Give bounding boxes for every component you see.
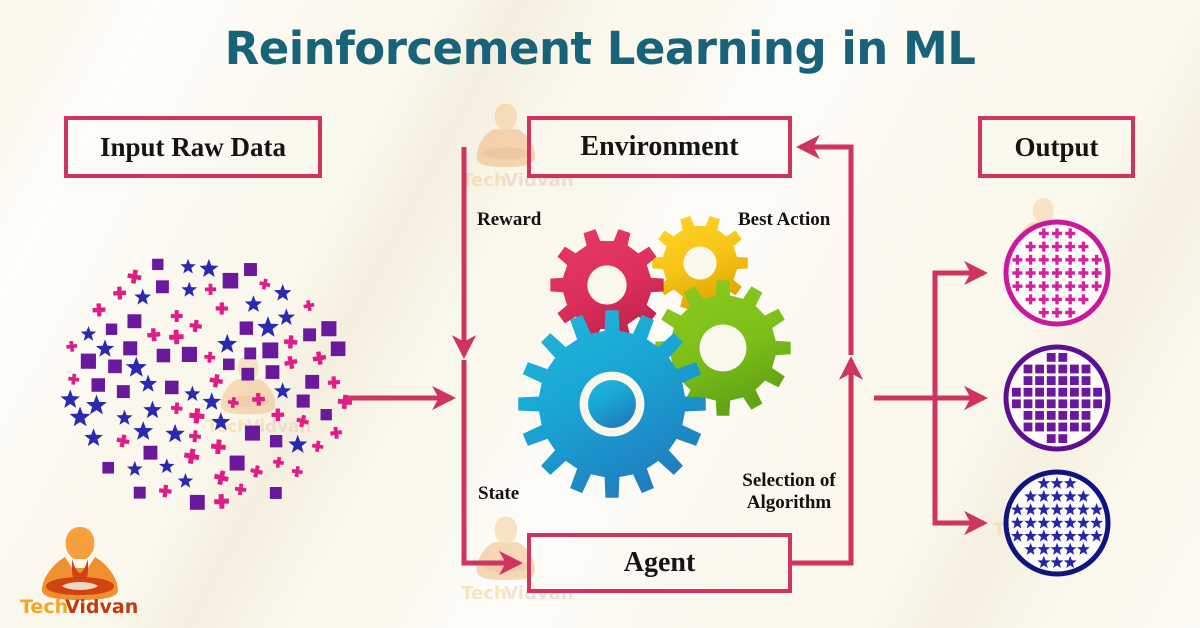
input-marker-star: [245, 295, 263, 312]
gear-cluster: [518, 216, 790, 498]
edge-label-best-action: Best Action: [738, 209, 830, 231]
input-marker-square: [270, 435, 282, 447]
gear-blue: [518, 310, 706, 498]
arrow-to-output-top: [935, 273, 984, 398]
input-marker-cross: [327, 376, 340, 389]
output-marker-square: [1070, 365, 1079, 374]
output-circle-group: [1006, 222, 1108, 574]
input-marker-square: [241, 368, 254, 381]
output-marker-square: [1082, 411, 1091, 420]
box-environment[interactable]: Environment: [527, 116, 792, 178]
logo-text-tech: Tech: [20, 596, 68, 616]
meditating-figure-icon: [42, 527, 118, 600]
input-marker-square: [102, 462, 114, 474]
input-marker-star: [159, 458, 175, 473]
output-marker-square: [1047, 365, 1056, 374]
output-marker-square: [1093, 388, 1102, 397]
input-marker-star: [96, 339, 114, 356]
output-marker-square: [1070, 423, 1079, 432]
output-marker-square: [1035, 399, 1044, 408]
infographic-canvas: Tech Vidvan Tech Vidvan Tech V: [0, 0, 1200, 628]
watermark-text-tech: Tech: [461, 583, 507, 604]
output-marker-square: [1082, 388, 1091, 397]
input-marker-square: [266, 365, 280, 379]
box-agent[interactable]: Agent: [527, 533, 792, 593]
output-marker-square: [1058, 411, 1067, 420]
input-marker-cross: [216, 302, 228, 314]
input-marker-square: [182, 347, 197, 362]
input-marker-square: [134, 487, 146, 499]
input-marker-cross: [189, 319, 203, 333]
input-marker-cross: [258, 278, 271, 291]
output-marker-square: [1024, 388, 1033, 397]
input-marker-square: [152, 259, 163, 270]
output-marker-square: [1047, 399, 1056, 408]
input-marker-star: [134, 288, 151, 304]
output-marker-square: [1058, 388, 1067, 397]
arrow-best-action-into-environment: [800, 147, 851, 355]
input-marker-square: [297, 395, 310, 408]
output-marker-square: [1082, 376, 1091, 385]
output-marker-square: [1082, 399, 1091, 408]
edge-label-selection-of-algorithm: Selection of Algorithm: [735, 470, 843, 515]
input-marker-square: [223, 273, 239, 289]
output-marker-square: [1047, 376, 1056, 385]
output-marker-square: [1035, 411, 1044, 420]
output-circle-crosses: [1006, 222, 1108, 324]
input-marker-square: [123, 341, 137, 355]
output-marker-square: [1082, 365, 1091, 374]
input-marker-square: [92, 378, 105, 391]
box-input-raw-data[interactable]: Input Raw Data: [64, 116, 322, 178]
input-marker-star: [165, 424, 184, 442]
input-marker-square: [321, 321, 336, 336]
output-marker-square: [1058, 423, 1067, 432]
input-marker-cross: [66, 340, 78, 352]
input-marker-square: [303, 328, 316, 341]
output-marker-square: [1058, 434, 1067, 443]
input-marker-cross: [92, 303, 106, 317]
box-input-raw-data-label: Input Raw Data: [100, 134, 286, 161]
box-environment-label: Environment: [580, 133, 738, 161]
arrow-agent-to-environment-selection: [792, 360, 851, 563]
output-marker-square: [1035, 388, 1044, 397]
input-marker-cross: [68, 373, 80, 385]
input-marker-star: [116, 409, 132, 424]
input-marker-cross: [126, 269, 142, 285]
output-marker-square: [1024, 399, 1033, 408]
output-marker-square: [1035, 365, 1044, 374]
input-marker-cross: [158, 484, 172, 498]
input-marker-star: [61, 389, 80, 408]
input-marker-square: [108, 360, 122, 374]
input-marker-star: [217, 334, 237, 353]
input-marker-star: [126, 357, 147, 377]
input-marker-star: [143, 401, 161, 419]
input-marker-square: [144, 446, 158, 460]
input-marker-cross: [213, 469, 230, 486]
output-marker-square: [1035, 423, 1044, 432]
input-marker-square: [321, 409, 332, 420]
input-marker-cross: [183, 447, 201, 465]
box-output[interactable]: Output: [978, 116, 1135, 178]
input-marker-star: [257, 316, 279, 337]
output-marker-square: [1024, 365, 1033, 374]
output-circle-stars: [1006, 472, 1108, 574]
input-marker-square: [223, 359, 235, 371]
input-marker-star: [180, 259, 195, 274]
input-marker-cross: [272, 456, 285, 469]
input-marker-cross: [234, 483, 247, 496]
input-marker-cross: [171, 310, 183, 322]
input-marker-star: [184, 386, 200, 401]
output-marker-square: [1070, 399, 1079, 408]
input-marker-star: [139, 375, 157, 392]
input-marker-cross: [189, 430, 202, 443]
box-output-label: Output: [1014, 134, 1098, 161]
input-marker-cross: [291, 465, 303, 477]
output-marker-square: [1024, 376, 1033, 385]
input-marker-square: [156, 280, 169, 293]
output-marker-square: [1024, 423, 1033, 432]
input-marker-square: [262, 342, 278, 358]
input-marker-square: [157, 349, 171, 363]
box-agent-label: Agent: [624, 549, 696, 577]
output-marker-square: [1058, 365, 1067, 374]
input-marker-square: [244, 263, 257, 276]
input-marker-cross: [284, 335, 298, 349]
input-marker-star: [181, 282, 197, 297]
input-marker-cross: [214, 494, 230, 510]
output-marker-square: [1058, 353, 1067, 362]
input-marker-cross: [303, 299, 316, 312]
input-marker-cross: [115, 433, 130, 448]
input-marker-square: [270, 487, 282, 499]
input-marker-star: [274, 284, 292, 301]
output-marker-square: [1093, 399, 1102, 408]
input-marker-square: [106, 324, 117, 335]
output-circle-squares: [1006, 347, 1108, 449]
output-marker-square: [1047, 434, 1056, 443]
input-marker-cross: [311, 440, 324, 453]
output-marker-square: [1012, 399, 1021, 408]
input-marker-cross: [205, 284, 216, 295]
output-marker-square: [1058, 376, 1067, 385]
input-marker-square: [240, 321, 253, 334]
output-marker-square: [1070, 376, 1079, 385]
logo-text-vidvan: Vidvan: [65, 596, 138, 616]
output-marker-square: [1047, 411, 1056, 420]
arrow-to-output-bottom: [935, 398, 984, 523]
input-marker-cross: [170, 402, 183, 415]
output-marker-square: [1070, 411, 1079, 420]
input-marker-star: [81, 326, 97, 341]
input-marker-square: [244, 347, 256, 359]
input-marker-square: [305, 375, 319, 389]
input-marker-cross: [209, 373, 224, 388]
input-marker-star: [288, 435, 307, 453]
input-data-cluster: [61, 259, 353, 510]
input-marker-square: [127, 314, 141, 328]
input-marker-star: [86, 395, 107, 415]
output-marker-square: [1058, 399, 1067, 408]
input-marker-square: [190, 495, 205, 510]
input-marker-square: [245, 426, 260, 441]
techvidvan-logo[interactable]: Tech Vidvan: [18, 524, 142, 616]
input-marker-star: [199, 259, 218, 277]
input-marker-cross: [204, 351, 216, 363]
input-marker-cross: [330, 426, 343, 439]
output-marker-square: [1082, 423, 1091, 432]
input-marker-cross: [113, 286, 127, 300]
input-marker-cross: [283, 355, 298, 370]
input-marker-star: [274, 382, 291, 398]
input-marker-star: [133, 421, 153, 440]
input-marker-square: [165, 381, 179, 395]
output-marker-square: [1047, 353, 1056, 362]
input-marker-cross: [147, 328, 161, 342]
input-marker-star: [178, 473, 193, 488]
input-marker-square: [331, 341, 346, 356]
edge-label-reward: Reward: [477, 209, 541, 231]
watermark-text-tech: Tech: [207, 416, 250, 436]
input-marker-square: [81, 354, 96, 369]
output-marker-square: [1047, 423, 1056, 432]
output-marker-square: [1070, 388, 1079, 397]
input-marker-square: [117, 385, 130, 398]
input-marker-cross: [169, 329, 184, 344]
input-marker-star: [127, 461, 143, 476]
output-marker-square: [1047, 388, 1056, 397]
input-marker-cross: [189, 408, 205, 424]
watermark-text-tech: Tech: [461, 170, 507, 191]
output-marker-square: [1035, 376, 1044, 385]
input-marker-star: [70, 406, 91, 426]
input-marker-cross: [210, 439, 226, 455]
output-marker-square: [1012, 388, 1021, 397]
input-marker-square: [230, 456, 245, 471]
input-marker-star: [278, 308, 295, 325]
input-marker-cross: [312, 351, 327, 366]
input-marker-cross: [249, 464, 263, 478]
input-marker-star: [202, 392, 221, 410]
edge-label-state: State: [478, 483, 519, 505]
output-marker-square: [1024, 411, 1033, 420]
input-marker-star: [84, 428, 103, 446]
